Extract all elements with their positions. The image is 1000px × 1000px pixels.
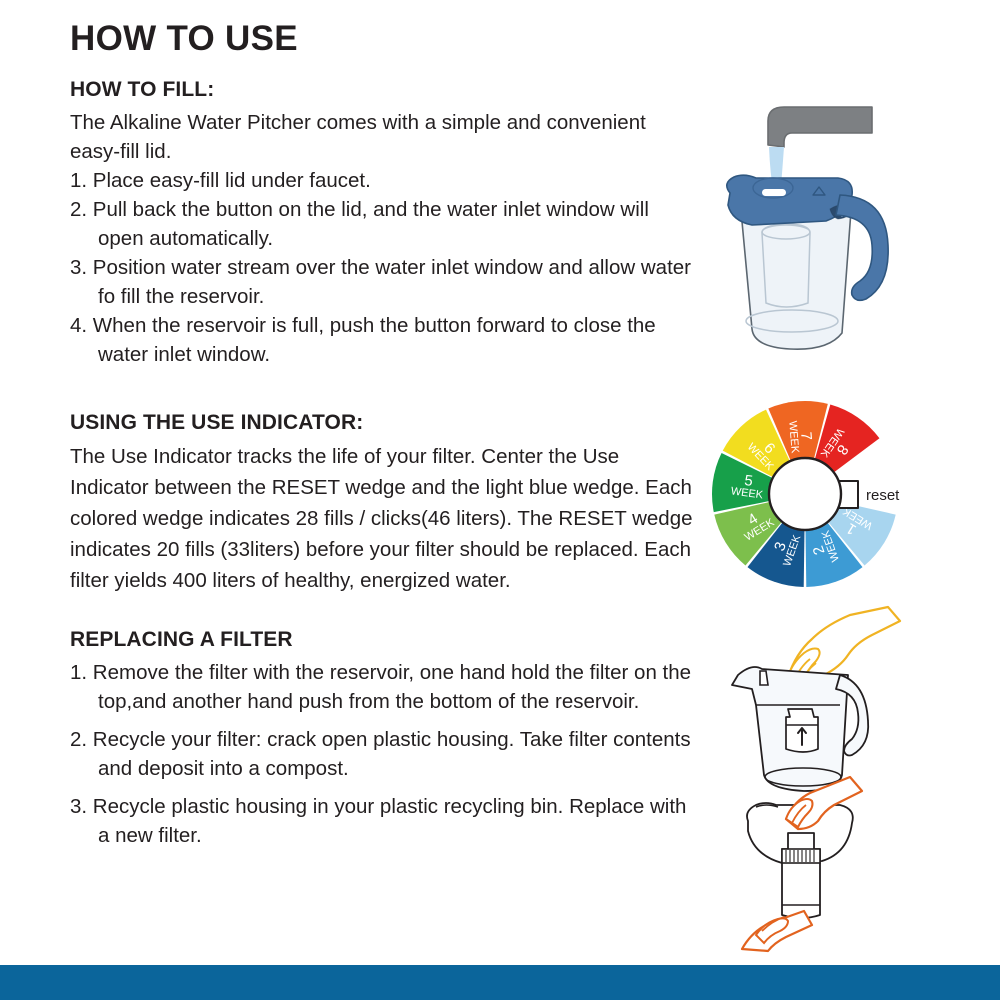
reset-label: reset xyxy=(866,487,900,504)
section-using-the-use-indicator: USING THE USE INDICATOR: The Use Indicat… xyxy=(70,409,695,596)
section-heading-how-to-fill: HOW TO FILL: xyxy=(70,76,695,104)
list-item: 3. Position water stream over the water … xyxy=(70,253,695,311)
section-how-to-fill: HOW TO FILL: The Alkaline Water Pitcher … xyxy=(70,76,695,369)
list-item: 4. When the reservoir is full, push the … xyxy=(70,311,695,369)
list-item: 2. Recycle your filter: crack open plast… xyxy=(70,725,695,783)
list-item: 3. Recycle plastic housing in your plast… xyxy=(70,792,695,850)
page-title: HOW TO USE xyxy=(70,18,695,60)
pitcher-under-faucet-illustration xyxy=(700,85,1000,365)
filter-step-one-scene xyxy=(732,607,900,791)
replacing-filter-illustration xyxy=(700,605,1000,955)
list-item: 2. Pull back the button on the lid, and … xyxy=(70,195,695,253)
how-to-fill-steps: 1. Place easy-fill lid under faucet. 2. … xyxy=(70,166,695,369)
replacing-filter-steps: 1. Remove the filter with the reservoir,… xyxy=(70,658,695,850)
section-heading-replacing-filter: REPLACING A FILTER xyxy=(70,626,695,654)
pitcher-spout xyxy=(760,671,768,685)
instructions-column: HOW TO USE HOW TO FILL: The Alkaline Wat… xyxy=(70,18,695,859)
section-spacer xyxy=(70,375,695,409)
section-replacing-a-filter: REPLACING A FILTER 1. Remove the filter … xyxy=(70,626,695,850)
bottom-color-bar xyxy=(0,965,1000,1000)
section-spacer xyxy=(70,602,695,626)
list-item: 1. Remove the filter with the reservoir,… xyxy=(70,658,695,716)
use-indicator-wheel-illustration: 1WEEK2WEEK3WEEK4WEEK5WEEK6WEEK7WEEK8WEEK… xyxy=(690,392,990,597)
faucet-icon xyxy=(768,107,872,147)
how-to-fill-intro: The Alkaline Water Pitcher comes with a … xyxy=(70,108,695,166)
list-item: 1. Place easy-fill lid under faucet. xyxy=(70,166,695,195)
inlet-opening xyxy=(762,189,786,196)
use-indicator-body: The Use Indicator tracks the life of you… xyxy=(70,441,695,596)
filter-step-two-scene xyxy=(742,777,862,951)
section-heading-use-indicator: USING THE USE INDICATOR: xyxy=(70,409,695,437)
wheel-hub xyxy=(769,458,841,530)
